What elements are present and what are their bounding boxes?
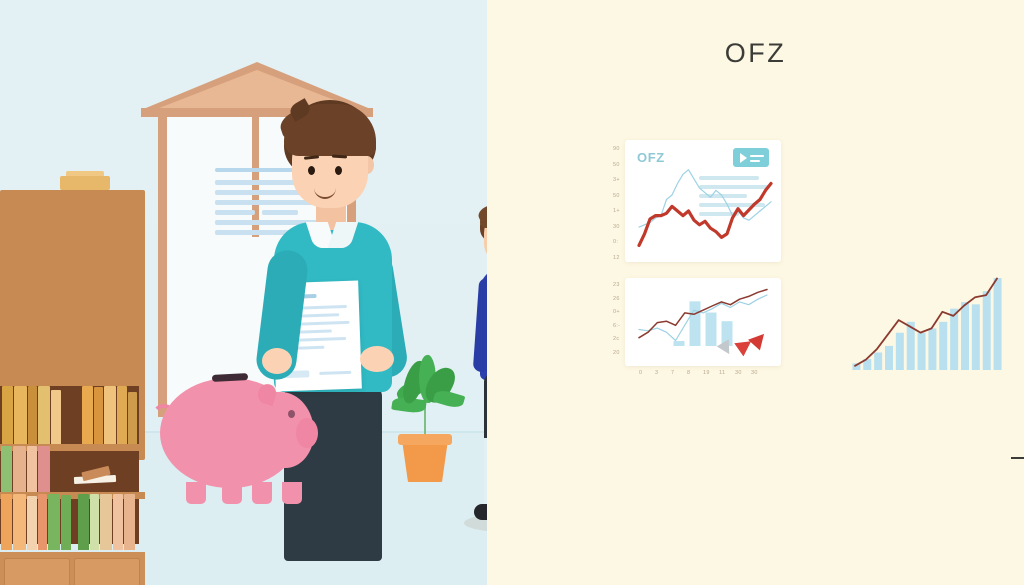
chart-line	[639, 170, 771, 227]
page-title: OFZ	[487, 38, 1024, 69]
y-tick-label: 6:-	[613, 323, 620, 329]
growth-bar-chart	[829, 258, 1009, 388]
book	[78, 494, 89, 550]
man-eye-left	[308, 166, 315, 175]
book	[51, 390, 61, 444]
y-tick-label: 30	[613, 224, 620, 230]
chart-line	[639, 295, 767, 341]
book	[2, 386, 13, 444]
shelf-top-box	[60, 176, 110, 190]
book	[13, 494, 26, 550]
man-hand-left	[262, 348, 292, 374]
x-tick-label: 30	[735, 370, 742, 376]
book	[61, 495, 71, 550]
chart-bar	[961, 302, 969, 370]
person2-arm-left	[473, 278, 487, 373]
poster-canvas: OFZ OFZ 90503+501+300:12 23260+6:-2c20 0…	[0, 0, 1024, 585]
x-tick-label: 3	[655, 370, 658, 376]
chart-bar	[706, 313, 717, 346]
chart-line	[639, 290, 767, 338]
y-tick-label: 90	[613, 146, 620, 152]
book	[94, 387, 103, 444]
book-row-middle	[0, 446, 139, 492]
chart-bar	[983, 291, 991, 370]
chart-bar	[994, 278, 1002, 370]
y-tick-label: 26	[613, 296, 620, 302]
standing-young-man	[468, 198, 487, 538]
x-tick-label: 7	[671, 370, 674, 376]
card1-line-plot	[625, 140, 781, 262]
house-post-left	[158, 117, 167, 417]
plant-leaf	[433, 388, 466, 410]
chart-bar	[874, 352, 882, 370]
book	[104, 386, 116, 444]
y-tick-label: 20	[613, 350, 620, 356]
book	[124, 494, 135, 550]
book-row-top	[0, 386, 139, 444]
book	[38, 494, 47, 550]
person2-hair-tuft	[476, 202, 487, 224]
chart-bar	[950, 309, 958, 370]
book	[27, 446, 37, 492]
x-tick-label: 11	[719, 370, 725, 376]
book	[1, 446, 12, 492]
chart-bar	[896, 333, 904, 370]
book	[14, 386, 27, 444]
illustration-panel	[0, 0, 487, 585]
plant-pot	[402, 440, 448, 482]
piggy-body	[160, 378, 300, 488]
principles-header: STEP BY-STEP PRINCIPLES	[974, 452, 1024, 464]
card2-plot	[625, 278, 781, 366]
chart-bar	[972, 304, 980, 370]
book	[128, 392, 137, 444]
book	[38, 446, 50, 492]
x-tick-label: 30	[751, 370, 758, 376]
book	[48, 494, 60, 550]
y-tick-label: 12	[613, 255, 620, 261]
x-tick-label: 0	[639, 370, 642, 376]
bookcase	[0, 190, 145, 460]
plant-pot-rim	[398, 434, 452, 445]
book	[1, 494, 12, 550]
piggy-leg	[282, 482, 302, 504]
chart-bar	[939, 322, 947, 370]
chart-bar	[928, 328, 936, 370]
book	[100, 494, 112, 550]
book-row-bottom	[0, 494, 139, 550]
piggy-snout	[296, 418, 318, 448]
cabinet-door-left[interactable]	[4, 558, 70, 585]
y-tick-label: 3+	[613, 177, 620, 183]
doc-footer-line	[319, 371, 351, 375]
book	[117, 386, 127, 444]
y-tick-label: 1+	[613, 208, 620, 214]
piggy-eye	[288, 410, 295, 418]
man-eye-right	[335, 166, 342, 175]
book	[28, 386, 37, 444]
y-tick-label: 50	[613, 162, 620, 168]
chart-bar	[690, 301, 701, 346]
board-line	[215, 210, 255, 215]
book	[113, 494, 123, 550]
book	[82, 386, 93, 444]
book	[90, 494, 99, 550]
cabinet-door-right[interactable]	[74, 558, 140, 585]
y-tick-label: 0+	[613, 309, 620, 315]
piggy-leg	[252, 482, 272, 504]
chart-bar	[674, 341, 685, 346]
bar-line-chart-card	[625, 278, 781, 366]
piggy-leg	[186, 482, 206, 504]
y-tick-label: 23	[613, 282, 620, 288]
book	[27, 496, 37, 550]
y-tick-label: 2c	[613, 336, 619, 342]
y-tick-label: 50	[613, 193, 620, 199]
x-tick-label: 19	[703, 370, 710, 376]
chart-bar	[918, 333, 926, 370]
man-hand-right	[360, 346, 394, 372]
rule-left	[1011, 457, 1024, 459]
x-tick-label: 8	[687, 370, 690, 376]
chart-bar	[885, 346, 893, 370]
book	[13, 446, 26, 492]
y-tick-label: 0:	[613, 239, 618, 245]
person2-shoe-left	[474, 504, 487, 520]
content-panel: OFZ OFZ 90503+501+300:12 23260+6:-2c20 0…	[487, 0, 1024, 585]
ofz-line-chart-card: OFZ	[625, 140, 781, 262]
book	[38, 386, 50, 444]
